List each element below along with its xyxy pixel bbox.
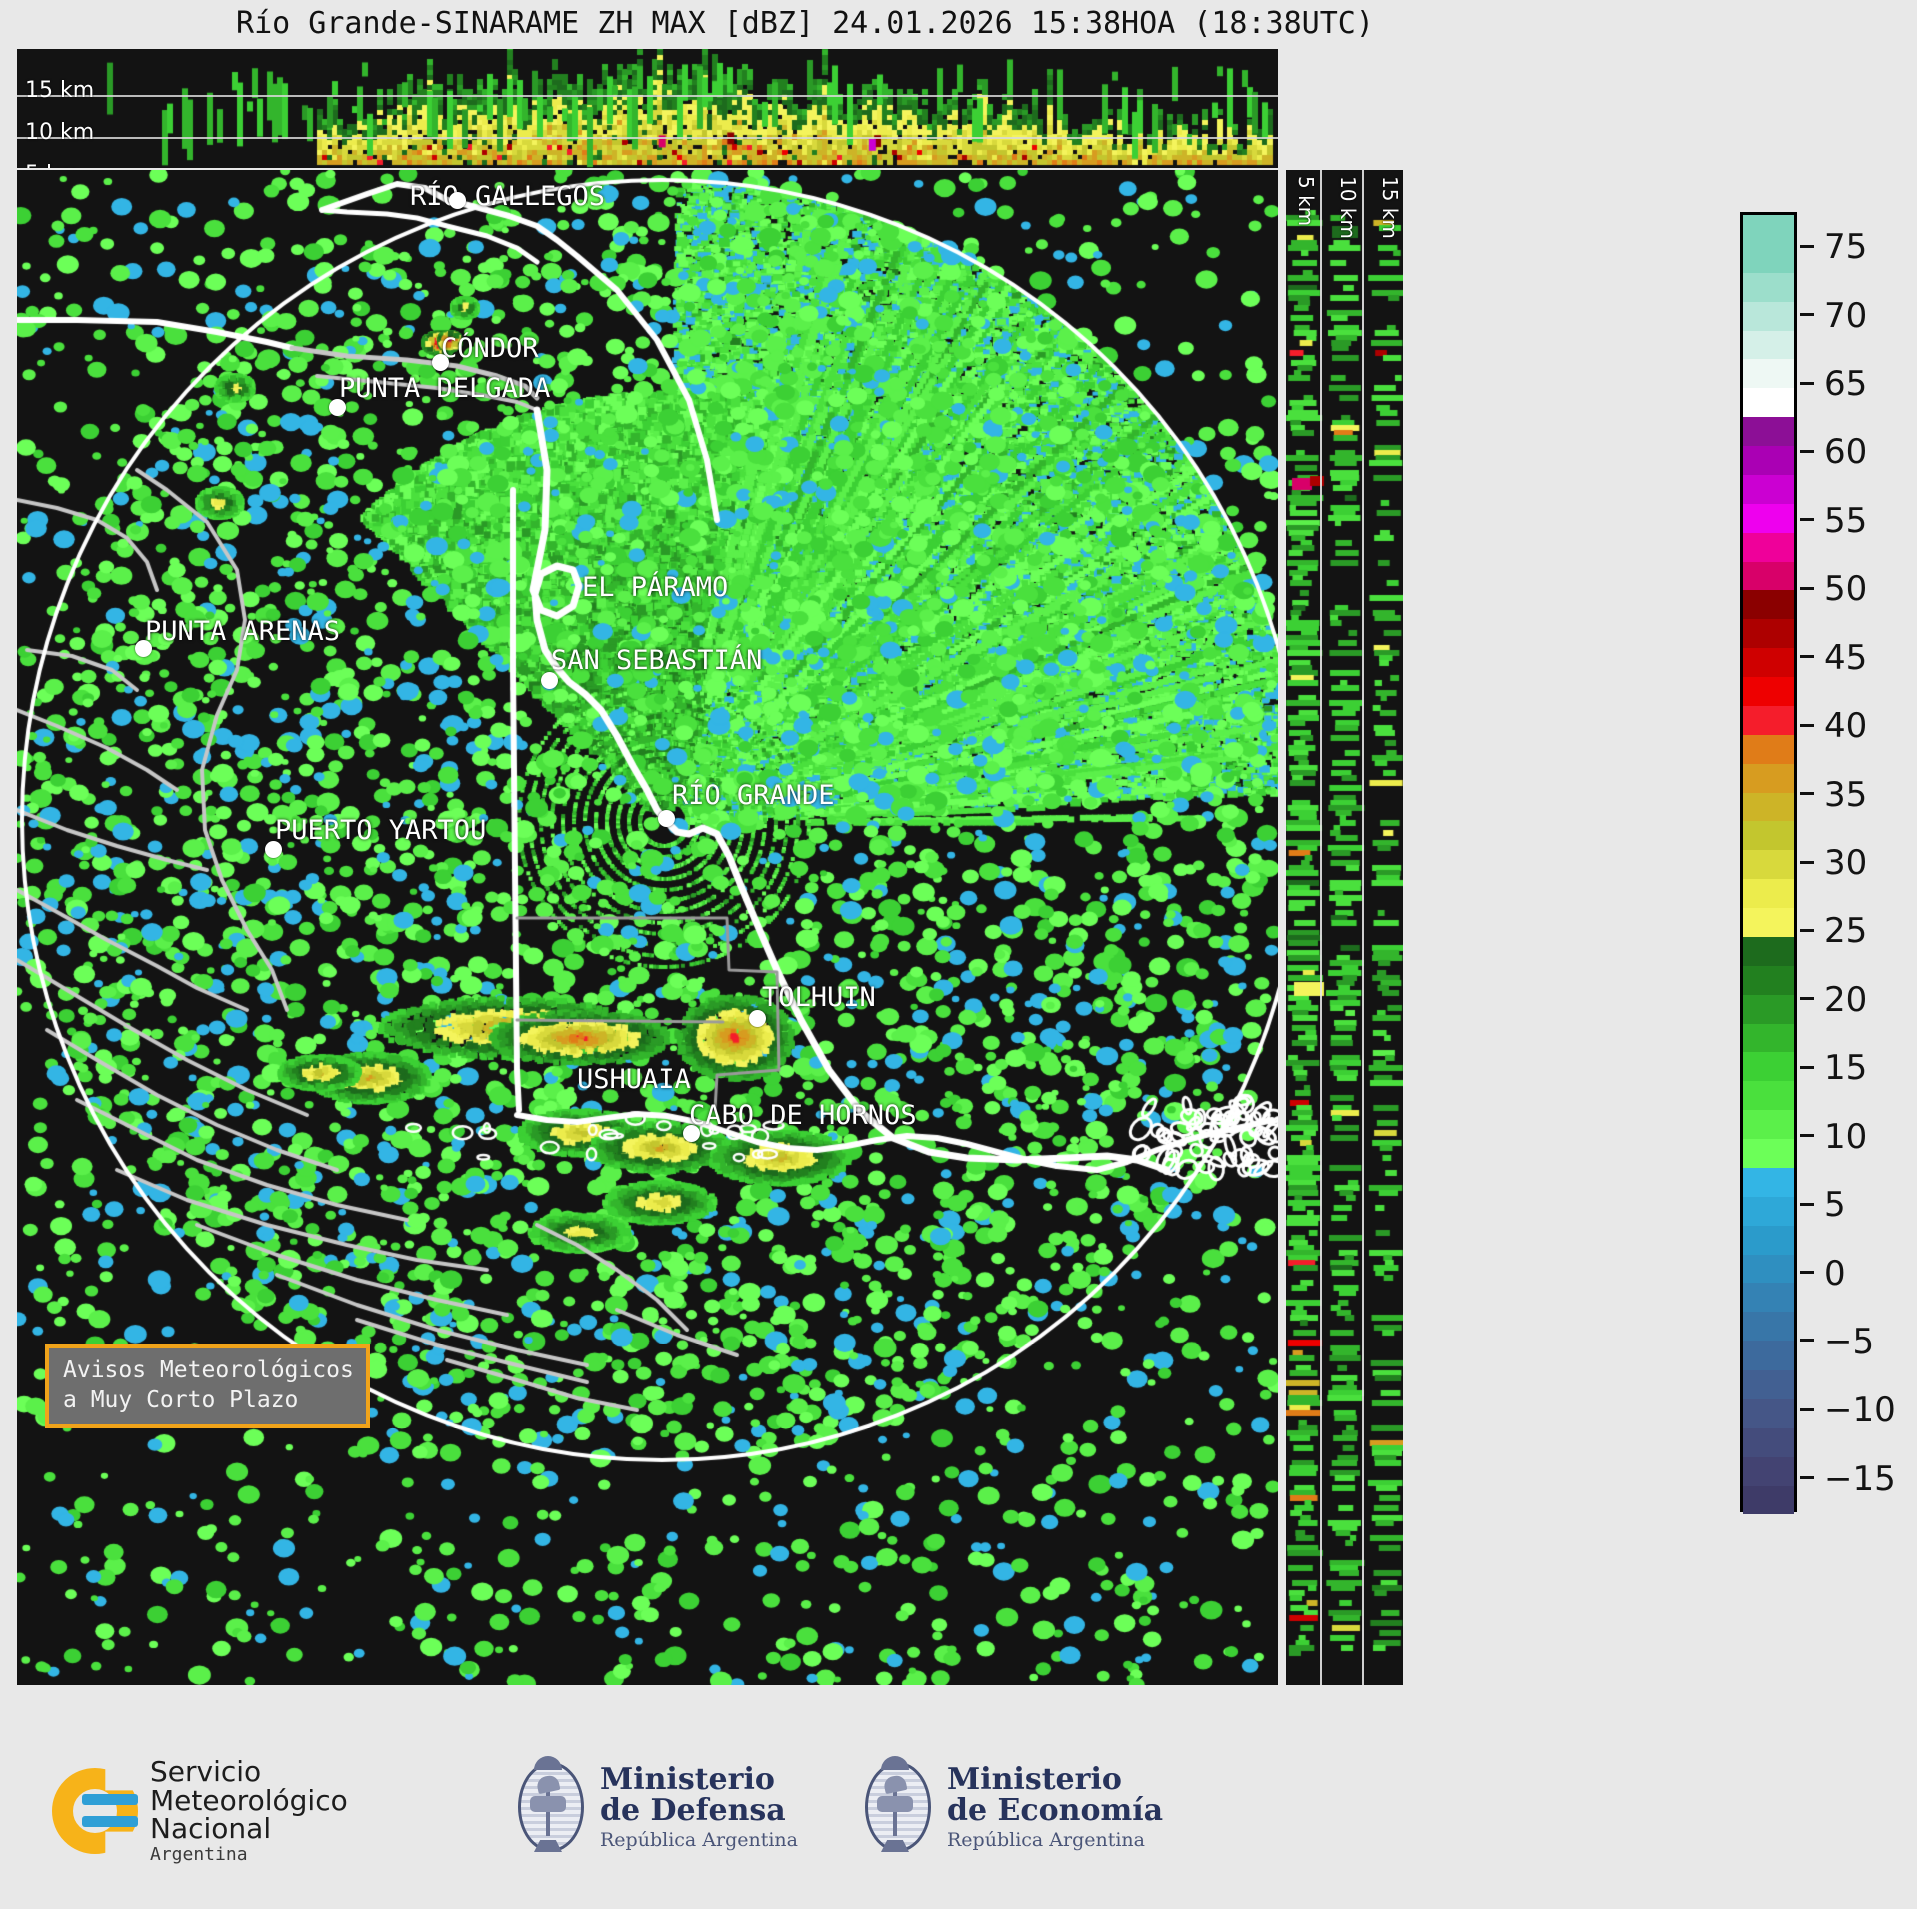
colorbar-segment xyxy=(1743,648,1794,677)
smn-logo-icon xyxy=(52,1768,138,1854)
colorbar-segment xyxy=(1743,388,1794,417)
colorbar-segment xyxy=(1743,446,1794,475)
xsec-right-label-10km: 10 km xyxy=(1336,176,1360,239)
colorbar-segment xyxy=(1743,1110,1794,1139)
city-marker-dot xyxy=(135,640,152,657)
colorbar-segment xyxy=(1743,764,1794,793)
colorbar-segment xyxy=(1743,302,1794,331)
colorbar-segment xyxy=(1743,677,1794,706)
page-title: Río Grande-SINARAME ZH MAX [dBZ] 24.01.2… xyxy=(0,6,1610,41)
colorbar-segment xyxy=(1743,475,1794,504)
colorbar-segment xyxy=(1743,1428,1794,1457)
economia-line-2: de Economía xyxy=(947,1795,1163,1827)
colorbar-segment xyxy=(1743,1197,1794,1226)
argentina-coat-of-arms-icon-2 xyxy=(857,1756,933,1858)
colorbar-segment xyxy=(1743,850,1794,879)
colorbar-segment xyxy=(1743,417,1794,446)
city-marker-dot xyxy=(329,399,346,416)
city-marker-dot xyxy=(749,1010,766,1027)
cross-section-top: 15 km 10 km 5 km xyxy=(17,49,1278,168)
smn-line-2: Meteorológico xyxy=(150,1787,348,1816)
colorbar-segment xyxy=(1743,995,1794,1024)
colorbar-segment xyxy=(1743,359,1794,388)
colorbar-segment xyxy=(1743,937,1794,966)
colorbar-segment xyxy=(1743,1139,1794,1168)
colorbar: 757065605550454035302520151050−5−10−15 xyxy=(1740,212,1915,1512)
radar-map-panel[interactable]: RÍO GALLEGOSCÓNDORPUNTA DELGADAEL PÁRAMO… xyxy=(17,170,1278,1685)
smn-sub: Argentina xyxy=(150,1846,348,1864)
city-marker-dot xyxy=(683,1125,700,1142)
colorbar-segment xyxy=(1743,215,1794,244)
colorbar-segment xyxy=(1743,1486,1794,1515)
logo-smn: Servicio Meteorológico Nacional Argentin… xyxy=(52,1758,348,1864)
defensa-line-2: de Defensa xyxy=(600,1795,798,1827)
colorbar-segment xyxy=(1743,273,1794,302)
xsec-top-label-15km: 15 km xyxy=(25,78,94,103)
xsec-top-label-5km: 5 km xyxy=(25,162,80,168)
economia-sub: República Argentina xyxy=(947,1830,1163,1850)
colorbar-segment xyxy=(1743,619,1794,648)
colorbar-segment xyxy=(1743,533,1794,562)
colorbar-segment xyxy=(1743,966,1794,995)
colorbar-segment xyxy=(1743,562,1794,591)
xsec-right-label-15km: 15 km xyxy=(1378,176,1402,239)
colorbar-segment xyxy=(1743,1052,1794,1081)
colorbar-segment xyxy=(1743,244,1794,273)
colorbar-segment xyxy=(1743,908,1794,937)
colorbar-segment xyxy=(1743,504,1794,533)
smn-line-3: Nacional xyxy=(150,1815,348,1844)
footer-logos: Servicio Meteorológico Nacional Argentin… xyxy=(0,1720,1610,1909)
colorbar-segment xyxy=(1743,331,1794,360)
colorbar-segment xyxy=(1743,1370,1794,1399)
colorbar-segment xyxy=(1743,1457,1794,1486)
colorbar-segment xyxy=(1743,1399,1794,1428)
argentina-coat-of-arms-icon xyxy=(510,1756,586,1858)
defensa-sub: República Argentina xyxy=(600,1830,798,1850)
colorbar-segment xyxy=(1743,793,1794,822)
colorbar-segment xyxy=(1743,735,1794,764)
logo-ministerio-defensa: Ministerio de Defensa República Argentin… xyxy=(510,1756,798,1858)
city-marker-dot xyxy=(432,354,449,371)
city-marker-dot xyxy=(449,192,466,209)
colorbar-ticks: 757065605550454035302520151050−5−10−15 xyxy=(1797,212,1917,1512)
defensa-line-1: Ministerio xyxy=(600,1764,798,1796)
colorbar-segment xyxy=(1743,1168,1794,1197)
colorbar-segment xyxy=(1743,821,1794,850)
economia-line-1: Ministerio xyxy=(947,1764,1163,1796)
xsec-right-label-5km: 5 km xyxy=(1294,176,1318,226)
colorbar-segment xyxy=(1743,706,1794,735)
colorbar-segment xyxy=(1743,879,1794,908)
colorbar-segment xyxy=(1743,1081,1794,1110)
xsec-top-label-10km: 10 km xyxy=(25,120,94,145)
colorbar-segment xyxy=(1743,1312,1794,1341)
colorbar-segment xyxy=(1743,1024,1794,1053)
colorbar-segment xyxy=(1743,590,1794,619)
colorbar-segment xyxy=(1743,1226,1794,1255)
colorbar-segment xyxy=(1743,1255,1794,1284)
smn-line-1: Servicio xyxy=(150,1758,348,1787)
colorbar-gradient xyxy=(1740,212,1797,1512)
city-marker-dot xyxy=(658,810,675,827)
city-marker-dot xyxy=(265,841,282,858)
warning-box: Avisos Meteorológicos a Muy Corto Plazo xyxy=(45,1344,370,1428)
cross-section-right: 5 km 10 km 15 km xyxy=(1286,170,1403,1685)
city-marker-dot xyxy=(541,672,558,689)
warning-line-1: Avisos Meteorológicos xyxy=(63,1355,354,1385)
colorbar-segment xyxy=(1743,1341,1794,1370)
logo-ministerio-economia: Ministerio de Economía República Argenti… xyxy=(857,1756,1163,1858)
colorbar-segment xyxy=(1743,1283,1794,1312)
warning-line-2: a Muy Corto Plazo xyxy=(63,1385,354,1415)
